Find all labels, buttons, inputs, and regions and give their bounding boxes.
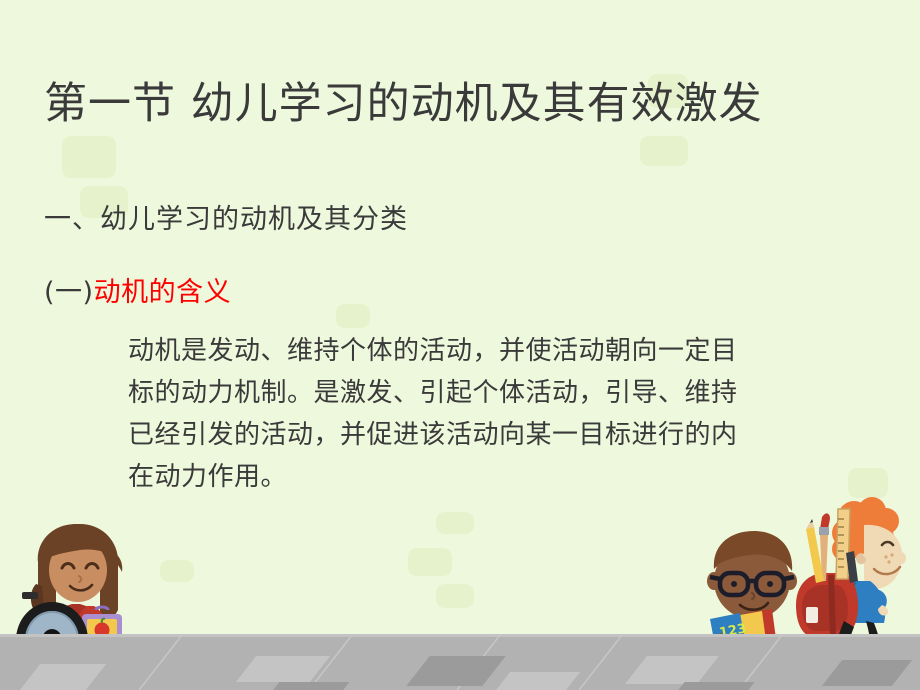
slide-title: 第一节 幼儿学习的动机及其有效激发 bbox=[44, 78, 763, 132]
presentation-slide: 第一节 幼儿学习的动机及其有效激发 一、幼儿学习的动机及其分类 (一)动机的含义… bbox=[0, 0, 920, 690]
deco-shape bbox=[62, 136, 116, 178]
body-line: 已经引发的活动，并促进该活动向某一目标进行的内 bbox=[128, 414, 858, 456]
deco-shape bbox=[436, 512, 474, 534]
section-number: (一) bbox=[44, 277, 94, 308]
body-line: 动机是发动、维持个体的活动，并使活动朝向一定目 bbox=[128, 330, 858, 372]
floor-seam bbox=[578, 634, 624, 690]
floor-seam bbox=[138, 634, 184, 690]
deco-shape bbox=[160, 560, 194, 582]
floor-tile bbox=[625, 656, 719, 684]
deco-shape bbox=[408, 548, 452, 576]
body-paragraph: 动机是发动、维持个体的活动，并使活动朝向一定目 标的动力机制。是激发、引起个体活… bbox=[128, 330, 858, 498]
section-heading: (一)动机的含义 bbox=[44, 270, 231, 309]
floor-tile bbox=[822, 660, 912, 686]
floor-tile bbox=[261, 682, 350, 690]
deco-shape bbox=[336, 304, 370, 328]
body-line: 标的动力机制。是激发、引起个体活动，引导、维持 bbox=[128, 372, 858, 414]
floor-tile bbox=[490, 672, 580, 690]
floor-tile bbox=[406, 656, 505, 686]
deco-shape bbox=[640, 136, 688, 166]
deco-shape bbox=[436, 584, 474, 608]
body-line: 在动力作用。 bbox=[128, 456, 858, 498]
floor-tile bbox=[20, 664, 106, 690]
floor bbox=[0, 634, 920, 690]
section-title: 动机的含义 bbox=[94, 277, 232, 308]
slide-subtitle: 一、幼儿学习的动机及其分类 bbox=[44, 197, 408, 236]
